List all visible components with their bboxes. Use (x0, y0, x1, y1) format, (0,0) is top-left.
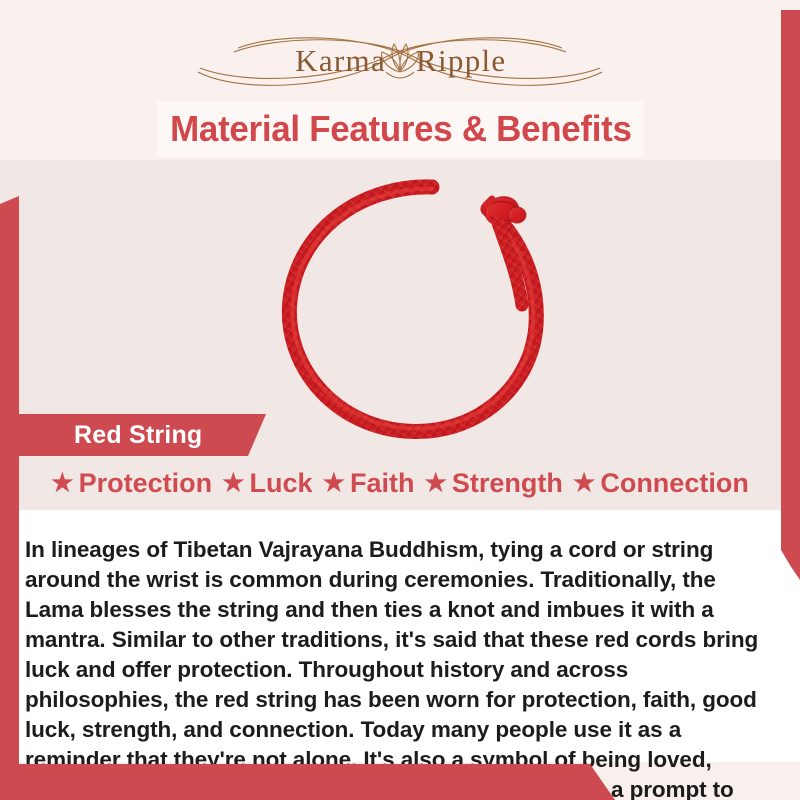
benefit-label: Connection (600, 468, 749, 499)
infographic-page: Karma Ripple Material Features & Benefit… (0, 0, 800, 800)
benefit-item-protection: ★ Protection (47, 468, 216, 499)
benefit-label: Faith (350, 468, 415, 499)
bottom-accent-bar (0, 764, 615, 800)
star-icon: ★ (51, 471, 73, 496)
benefit-item-strength: ★ Strength (420, 468, 566, 499)
benefit-label: Luck (250, 468, 313, 499)
brand-logo: Karma Ripple (0, 28, 800, 90)
logo-svg: Karma Ripple (190, 28, 610, 90)
brand-name-right: Ripple (416, 43, 506, 78)
brand-name-left: Karma (295, 43, 386, 78)
page-title: Material Features & Benefits (170, 108, 631, 150)
bracelet-svg (240, 165, 590, 465)
star-icon: ★ (323, 471, 345, 496)
star-icon: ★ (424, 471, 446, 496)
benefit-item-connection: ★ Connection (569, 468, 753, 499)
section-banner: Red String (18, 414, 266, 456)
benefit-label: Strength (452, 468, 563, 499)
benefits-list: ★ Protection ★ Luck ★ Faith ★ Strength ★… (18, 462, 782, 504)
section-banner-label: Red String (74, 421, 202, 450)
right-accent-bar (781, 10, 800, 580)
product-image (240, 165, 590, 465)
benefit-item-faith: ★ Faith (319, 468, 419, 499)
description-paragraph: In lineages of Tibetan Vajrayana Buddhis… (25, 535, 777, 800)
title-banner: Material Features & Benefits (157, 101, 644, 157)
benefit-label: Protection (79, 468, 213, 499)
benefit-item-luck: ★ Luck (218, 468, 316, 499)
star-icon: ★ (573, 471, 595, 496)
star-icon: ★ (222, 471, 244, 496)
left-accent-bar (0, 196, 19, 800)
